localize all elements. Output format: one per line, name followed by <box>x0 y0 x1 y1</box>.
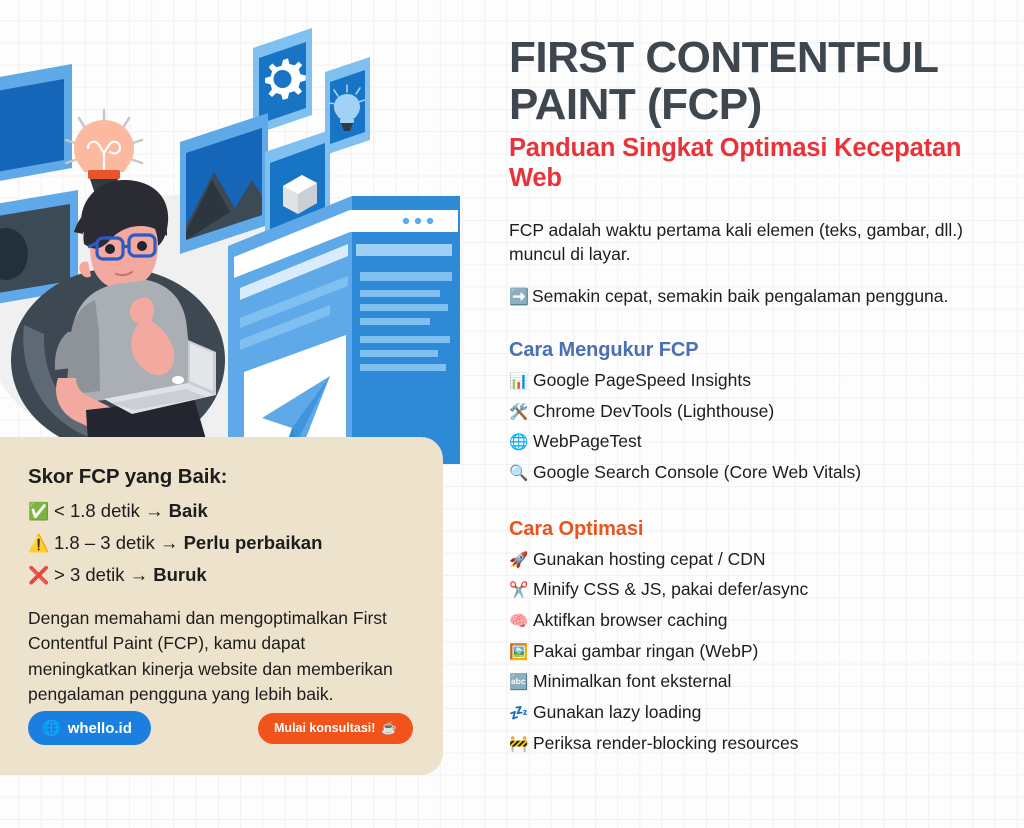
score-row-good: ✅ < 1.8 detik → Baik <box>28 499 413 524</box>
whello-brand-label: whello.id <box>68 720 132 737</box>
picture-icon: 🖼️ <box>509 640 533 667</box>
tagline-row: ➡️ Semakin cepat, semakin baik pengalama… <box>509 284 999 309</box>
check-mark-icon: ✅ <box>28 503 54 520</box>
bar-chart-icon: 📊 <box>509 369 533 396</box>
list-item: 🔍 Google Search Console (Core Web Vitals… <box>509 457 999 488</box>
abc-icon: 🔤 <box>509 670 533 697</box>
right-arrow-icon: ➡️ <box>509 287 532 309</box>
list-item: ✂️ Minify CSS & JS, pakai defer/async <box>509 574 999 605</box>
score-verdict-good: Baik <box>169 500 208 521</box>
tagline-text: Semakin cepat, semakin baik pengalaman p… <box>532 284 948 308</box>
optimize-section-title: Cara Optimasi <box>509 518 999 541</box>
measure-item-label: Google Search Console (Core Web Vitals) <box>533 457 861 487</box>
optimize-item-label: Gunakan lazy loading <box>533 697 701 727</box>
list-item: 🔤 Minimalkan font eksternal <box>509 666 999 697</box>
cross-mark-icon: ❌ <box>28 567 54 584</box>
optimize-list: 🚀 Gunakan hosting cepat / CDN ✂️ Minify … <box>509 544 999 759</box>
infographic-page: Skor FCP yang Baik: ✅ < 1.8 detik → Baik… <box>0 0 1024 828</box>
score-row-needs-improvement: ⚠️ 1.8 – 3 detik → Perlu perbaikan <box>28 531 413 556</box>
sleep-icon: 💤 <box>509 701 533 728</box>
score-range-good: < 1.8 detik → <box>54 500 169 521</box>
globe-icon: 🌐 <box>42 719 61 737</box>
list-item: 🚧 Periksa render-blocking resources <box>509 728 999 759</box>
browser-window-illustration <box>228 196 460 464</box>
optimize-item-label: Periksa render-blocking resources <box>533 728 799 758</box>
list-item: 🖼️ Pakai gambar ringan (WebP) <box>509 636 999 667</box>
rocket-icon: 🚀 <box>509 548 533 575</box>
list-item: 💤 Gunakan lazy loading <box>509 697 999 728</box>
score-card: Skor FCP yang Baik: ✅ < 1.8 detik → Baik… <box>0 437 443 775</box>
optimize-item-label: Gunakan hosting cepat / CDN <box>533 544 766 574</box>
score-row-poor: ❌ > 3 detik → Buruk <box>28 563 413 588</box>
score-range-poor: > 3 detik → <box>54 564 153 585</box>
globe-icon: 🌐 <box>509 430 533 457</box>
whello-brand-button[interactable]: 🌐 whello.id <box>28 711 151 745</box>
optimize-item-label: Pakai gambar ringan (WebP) <box>533 636 758 666</box>
page-title: FIRST CONTENTFUL PAINT (FCP) <box>509 34 999 128</box>
panel-left-top <box>0 64 72 188</box>
optimize-item-label: Minify CSS & JS, pakai defer/async <box>533 574 808 604</box>
measure-item-label: Google PageSpeed Insights <box>533 365 751 395</box>
measure-item-label: Chrome DevTools (Lighthouse) <box>533 396 774 426</box>
card-button-row: 🌐 whello.id Mulai konsultasi! ☕ <box>28 711 413 745</box>
scissors-icon: ✂️ <box>509 578 533 605</box>
score-verdict-poor: Buruk <box>153 564 206 585</box>
barrier-icon: 🚧 <box>509 732 533 759</box>
score-verdict-needs-improvement: Perlu perbaikan <box>184 532 323 553</box>
measure-item-label: WebPageTest <box>533 426 642 456</box>
intro-paragraph: FCP adalah waktu pertama kali elemen (te… <box>509 218 979 266</box>
score-card-paragraph: Dengan memahami dan mengoptimalkan First… <box>28 606 413 708</box>
cta-label: Mulai konsultasi! <box>274 721 375 735</box>
tools-icon: 🛠️ <box>509 400 533 427</box>
optimize-item-label: Aktifkan browser caching <box>533 605 728 635</box>
list-item: 🛠️ Chrome DevTools (Lighthouse) <box>509 396 999 427</box>
page-subtitle: Panduan Singkat Optimasi Kecepatan Web <box>509 134 999 194</box>
measure-list: 📊 Google PageSpeed Insights 🛠️ Chrome De… <box>509 365 999 488</box>
optimize-item-label: Minimalkan font eksternal <box>533 666 731 696</box>
panel-small-bulb <box>325 57 370 155</box>
hero-illustration <box>0 0 460 470</box>
measure-section: Cara Mengukur FCP 📊 Google PageSpeed Ins… <box>509 339 999 488</box>
list-item: 🌐 WebPageTest <box>509 426 999 457</box>
start-consultation-button[interactable]: Mulai konsultasi! ☕ <box>258 713 413 744</box>
list-item: 🚀 Gunakan hosting cepat / CDN <box>509 544 999 575</box>
score-range-needs-improvement: 1.8 – 3 detik → <box>54 532 184 553</box>
list-item: 🧠 Aktifkan browser caching <box>509 605 999 636</box>
optimize-section: Cara Optimasi 🚀 Gunakan hosting cepat / … <box>509 518 999 759</box>
content-column: FIRST CONTENTFUL PAINT (FCP) Panduan Sin… <box>509 34 999 758</box>
coffee-cup-icon: ☕ <box>381 721 397 736</box>
measure-section-title: Cara Mengukur FCP <box>509 339 999 362</box>
warning-icon: ⚠️ <box>28 535 54 552</box>
score-card-title: Skor FCP yang Baik: <box>28 465 413 489</box>
list-item: 📊 Google PageSpeed Insights <box>509 365 999 396</box>
magnifier-icon: 🔍 <box>509 461 533 488</box>
brain-icon: 🧠 <box>509 609 533 636</box>
